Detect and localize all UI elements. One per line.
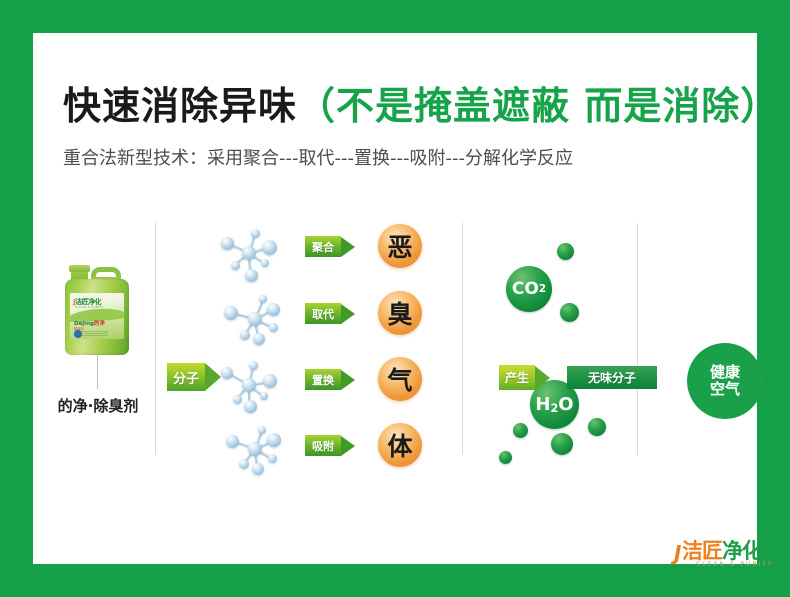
molecule-cluster [213, 223, 285, 285]
divider-2 [462, 223, 463, 455]
co2-sphere: CO2 [506, 266, 552, 312]
molecule-node [252, 463, 264, 475]
product-caption: 的净·除臭剂 [43, 395, 153, 416]
step-arrow-label: 置换 [305, 369, 341, 390]
odor-character-circle-1: 恶 [378, 224, 422, 268]
molecule-node [253, 333, 265, 345]
molecule-node [245, 269, 258, 282]
molecule-node [259, 295, 267, 303]
step-arrow-label: 聚合 [305, 236, 341, 257]
molecule-node [221, 237, 234, 250]
title-green-part: （不是掩盖遮蔽 而是消除） [297, 84, 779, 128]
molecule-node [267, 433, 281, 447]
molecule-cluster [219, 419, 291, 481]
molecule-node [263, 374, 277, 388]
molecule-node [262, 240, 277, 255]
step-arrow-head [341, 370, 355, 390]
molecule-core-node [248, 312, 262, 326]
molecule-cluster [213, 355, 285, 417]
step-arrow-adsorb: 吸附 [305, 435, 355, 456]
produce-arrow-head [535, 366, 550, 390]
molecule-node [233, 395, 242, 404]
bottle-label: J洁匠净化 CLEAN & PURIFY Dejing的净 除臭剂 [70, 293, 124, 339]
deodorizer-bottle-icon: J洁匠净化 CLEAN & PURIFY Dejing的净 除臭剂 [65, 263, 129, 355]
odorless-molecule-badge: 无味分子 [567, 366, 657, 389]
logo-registered-mark: ® [770, 536, 777, 544]
molecule-node [224, 306, 238, 320]
molecule-node [221, 367, 233, 379]
divider-1 [155, 223, 156, 455]
step-arrow-label: 吸附 [305, 435, 341, 456]
produce-arrow: 产生 [499, 365, 550, 390]
molecule-node [249, 361, 258, 370]
molecule-node [226, 435, 239, 448]
bubble-small [588, 418, 606, 436]
page-title: 快速消除异味（不是掩盖遮蔽 而是消除） [63, 75, 727, 130]
molecule-node [261, 259, 269, 267]
molecule-core-node [242, 378, 256, 392]
molecule-arrow-label: 分子 [167, 363, 205, 391]
healthy-air-line2: 空气 [710, 381, 740, 398]
molecule-node [251, 229, 260, 238]
odor-character-circle-2: 臭 [378, 291, 422, 335]
odor-character-circle-4: 体 [378, 423, 422, 467]
bubble-small [499, 451, 512, 464]
co2-subscript: 2 [539, 283, 546, 295]
step-arrow-substitute: 取代 [305, 303, 355, 324]
brand-logo: J 洁匠净化 ® CLEAN & PURIFY [674, 535, 784, 579]
molecule-core-node [248, 442, 262, 456]
molecule-node [267, 303, 280, 316]
molecule-node [269, 323, 278, 332]
step-arrow-head [341, 436, 355, 456]
bubble-small [551, 433, 573, 455]
molecule-node [231, 261, 240, 270]
poster-inner-canvas: 快速消除异味（不是掩盖遮蔽 而是消除） 重合法新型技术：采用聚合---取代---… [33, 33, 757, 564]
caption-leader-line [97, 355, 98, 389]
title-black-part: 快速消除异味 [63, 84, 297, 128]
molecule-node [244, 400, 257, 413]
step-arrow-displace: 置换 [305, 369, 355, 390]
step-arrow-head [341, 304, 355, 324]
product-panel: J洁匠净化 CLEAN & PURIFY Dejing的净 除臭剂 的净·除臭剂 [43, 263, 153, 453]
step-arrow-polymerize: 聚合 [305, 236, 355, 257]
h2o-label: H2O [535, 394, 573, 415]
divider-3 [637, 223, 638, 455]
step-arrow-label: 取代 [305, 303, 341, 324]
step-arrow-head [341, 237, 355, 257]
co2-label: CO [512, 279, 539, 299]
molecule-node [239, 459, 249, 469]
molecule-core-node [242, 246, 256, 260]
healthy-air-badge: 健康 空气 [687, 343, 763, 419]
molecule-cluster [219, 289, 291, 351]
bottle-cap [69, 265, 90, 272]
subtitle: 重合法新型技术：采用聚合---取代---置换---吸附---分解化学反应 [63, 144, 727, 170]
odor-character-circle-3: 气 [378, 357, 422, 401]
poster-frame: 快速消除异味（不是掩盖遮蔽 而是消除） 重合法新型技术：采用聚合---取代---… [0, 0, 790, 597]
logo-tagline: CLEAN & PURIFY [696, 561, 773, 568]
bubble-small [557, 243, 574, 260]
bottle-label-english: CLEAN & PURIFY [75, 305, 104, 309]
bottle-label-badge [74, 330, 82, 338]
healthy-air-line1: 健康 [710, 364, 740, 381]
logo-mark: J [674, 541, 681, 565]
produce-arrow-label: 产生 [499, 365, 535, 390]
molecule-node [260, 392, 268, 400]
bubble-small [513, 423, 528, 438]
molecule-node [268, 454, 277, 463]
bubble-small [560, 303, 579, 322]
molecule-node [258, 426, 266, 434]
molecule-node [240, 330, 250, 340]
